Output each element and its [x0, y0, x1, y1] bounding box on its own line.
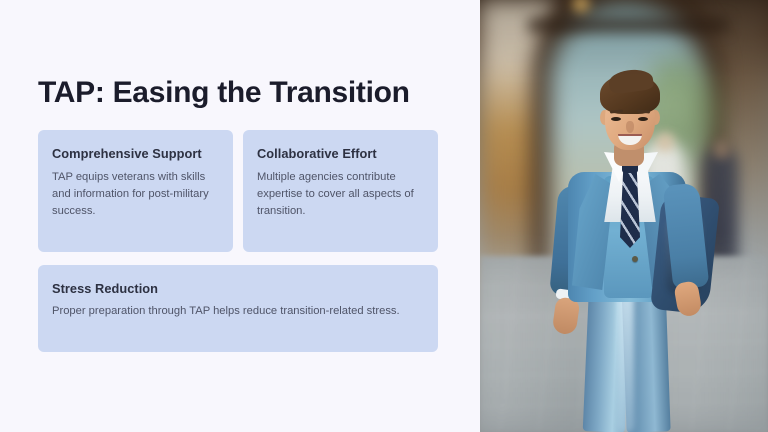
slide-root: TAP: Easing the Transition Comprehensive…: [0, 0, 768, 432]
necktie: [620, 170, 640, 248]
trouser-highlight: [618, 286, 634, 432]
card-body: TAP equips veterans with skills and info…: [52, 169, 219, 220]
eye-right: [638, 117, 648, 121]
cards-area: Comprehensive Support TAP equips veteran…: [38, 130, 438, 352]
card-collaborative-effort[interactable]: Collaborative Effort Multiple agencies c…: [243, 130, 438, 252]
waistcoat-button-lower: [632, 256, 638, 262]
card-body: Multiple agencies contribute expertise t…: [257, 169, 424, 220]
hero-photo: [480, 0, 768, 432]
necktie-stripes: [620, 170, 640, 248]
page-title: TAP: Easing the Transition: [38, 76, 410, 111]
card-body: Proper preparation through TAP helps red…: [52, 303, 424, 320]
card-comprehensive-support[interactable]: Comprehensive Support TAP equips veteran…: [38, 130, 233, 252]
nose: [626, 121, 634, 133]
content-panel: TAP: Easing the Transition Comprehensive…: [0, 0, 480, 432]
hand-left: [552, 297, 581, 336]
card-heading: Stress Reduction: [52, 280, 424, 297]
foreground-man: [480, 0, 768, 432]
eye-left: [611, 117, 621, 121]
card-heading: Comprehensive Support: [52, 145, 219, 162]
card-heading: Collaborative Effort: [257, 145, 424, 162]
card-row-top: Comprehensive Support TAP equips veteran…: [38, 130, 438, 252]
card-stress-reduction[interactable]: Stress Reduction Proper preparation thro…: [38, 265, 438, 352]
